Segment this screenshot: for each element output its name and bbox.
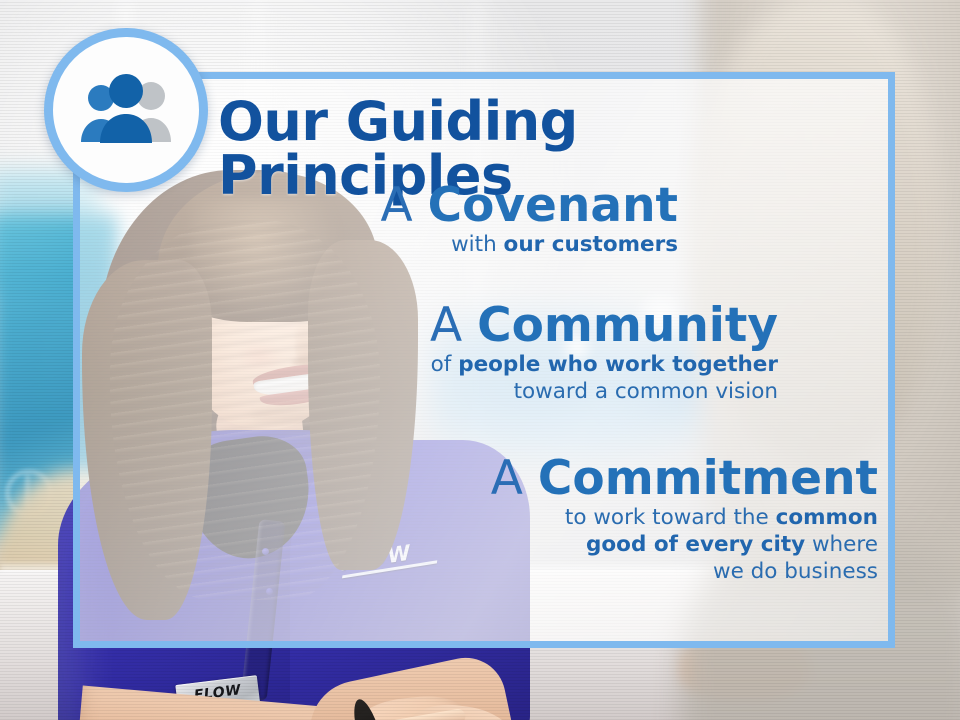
- principle-subtext-line: we do business: [200, 558, 878, 585]
- people-badge-circle: [44, 28, 208, 192]
- principle-word: Commitment: [538, 451, 878, 506]
- principle-heading: A Community: [200, 302, 778, 351]
- text-run: of: [431, 352, 459, 377]
- text-run-bold: people who work together: [458, 352, 778, 377]
- principle-subtext-line: to work toward the common: [200, 504, 878, 531]
- principle-subtext: to work toward the common good of every …: [200, 504, 878, 586]
- text-run: with: [451, 232, 503, 257]
- principle-article: A: [430, 298, 462, 353]
- text-run: to work toward the: [565, 505, 776, 530]
- text-run: where: [805, 532, 878, 557]
- principle-subtext-line: with our customers: [200, 231, 678, 258]
- text-run-bold: common: [776, 505, 878, 530]
- principle-subtext-line: of people who work together: [200, 351, 778, 378]
- principle-heading: A Covenant: [200, 182, 678, 231]
- text-run: toward a common vision: [514, 379, 778, 404]
- text-run: we do business: [713, 559, 878, 584]
- principle-community: A Community of people who work together …: [200, 302, 778, 405]
- principle-subtext-line: toward a common vision: [200, 378, 778, 405]
- principle-article: A: [380, 178, 412, 233]
- people-group-icon: [73, 72, 179, 148]
- principle-subtext-line: good of every city where: [200, 531, 878, 558]
- principle-word: Community: [477, 298, 778, 353]
- principle-article: A: [491, 451, 523, 506]
- text-run-bold: our customers: [504, 232, 678, 257]
- principle-heading: A Commitment: [200, 455, 878, 504]
- principle-subtext: with our customers: [200, 231, 678, 258]
- principle-covenant: A Covenant with our customers: [200, 182, 678, 258]
- text-run-bold: good of every city: [586, 532, 805, 557]
- principle-subtext: of people who work together toward a com…: [200, 351, 778, 406]
- guiding-principles-graphic: FLOW FLOW AUTOMOTIVE: [0, 0, 960, 720]
- principle-word: Covenant: [428, 178, 678, 233]
- principle-commitment: A Commitment to work toward the common g…: [200, 455, 878, 586]
